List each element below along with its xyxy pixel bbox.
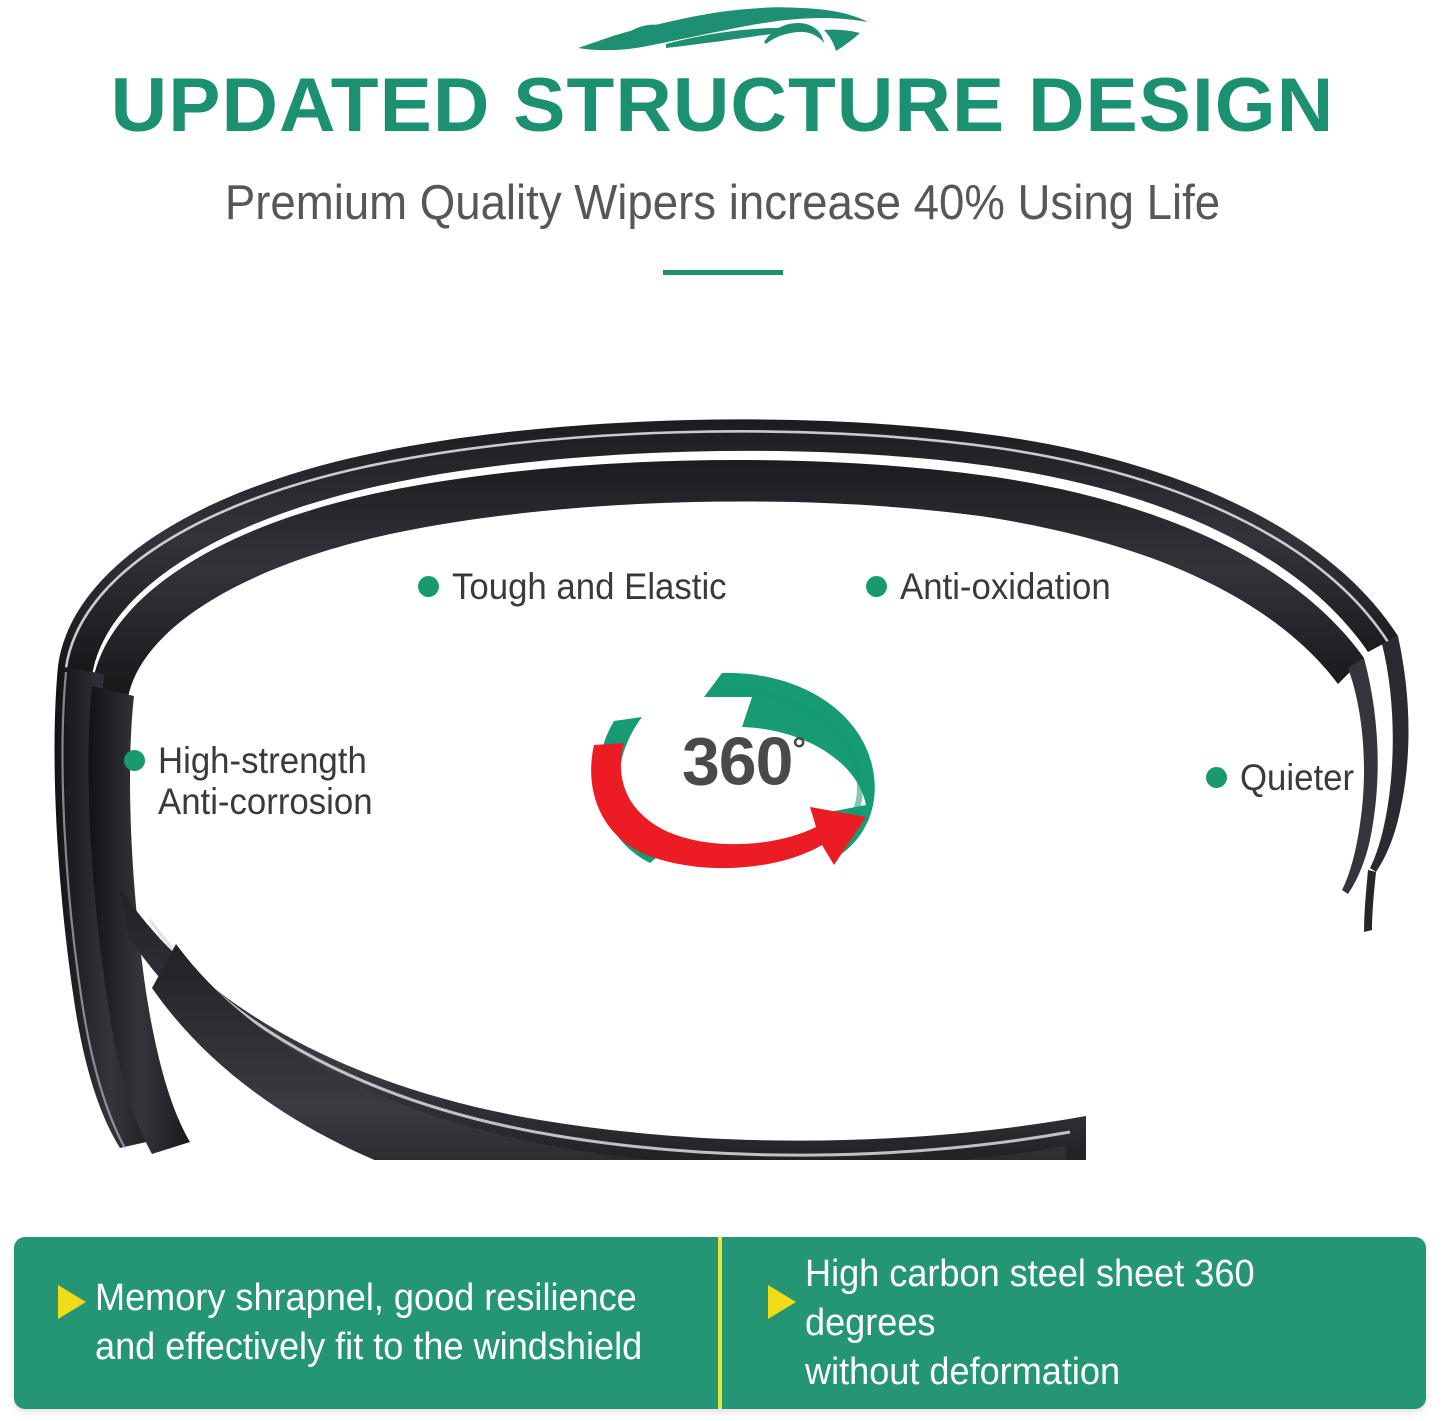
page-title: UPDATED STRUCTURE DESIGN: [0, 64, 1445, 148]
feature-quieter: Quieter: [1206, 757, 1361, 798]
bullet-dot-icon: [1206, 767, 1227, 788]
feature-anti-oxidation: Anti-oxidation: [866, 566, 1124, 607]
banner-left-text: Memory shrapnel, good resilience and eff…: [95, 1274, 642, 1372]
car-silhouette-icon: [568, 4, 878, 60]
360-degree-badge: 360°: [566, 655, 921, 870]
feature-label: Anti-oxidation: [900, 566, 1111, 607]
feature-label: Tough and Elastic: [452, 566, 727, 607]
bullet-dot-icon: [124, 750, 145, 771]
bottom-banner: Memory shrapnel, good resilience and eff…: [14, 1237, 1426, 1409]
triangle-bullet-icon: [58, 1285, 86, 1319]
degree-symbol-icon: °: [792, 730, 805, 768]
bullet-dot-icon: [418, 576, 439, 597]
feature-label: High-strength Anti-corrosion: [158, 740, 373, 822]
feature-tough-and-elastic: Tough and Elastic: [418, 566, 744, 607]
banner-panel-right: High carbon steel sheet 360 degrees with…: [722, 1237, 1426, 1409]
badge-value: 360: [682, 723, 792, 799]
bullet-dot-icon: [866, 576, 887, 597]
banner-panel-left: Memory shrapnel, good resilience and eff…: [14, 1237, 718, 1409]
feature-high-strength-anti-corrosion: High-strength Anti-corrosion: [124, 740, 386, 822]
feature-label: Quieter: [1240, 757, 1354, 798]
banner-right-text: High carbon steel sheet 360 degrees with…: [805, 1250, 1395, 1397]
badge-text: 360°: [566, 727, 921, 795]
header-divider: [663, 270, 783, 275]
product-infographic: UPDATED STRUCTURE DESIGN Premium Quality…: [0, 0, 1445, 1421]
triangle-bullet-icon: [768, 1285, 796, 1319]
page-subtitle: Premium Quality Wipers increase 40% Usin…: [51, 174, 1395, 232]
